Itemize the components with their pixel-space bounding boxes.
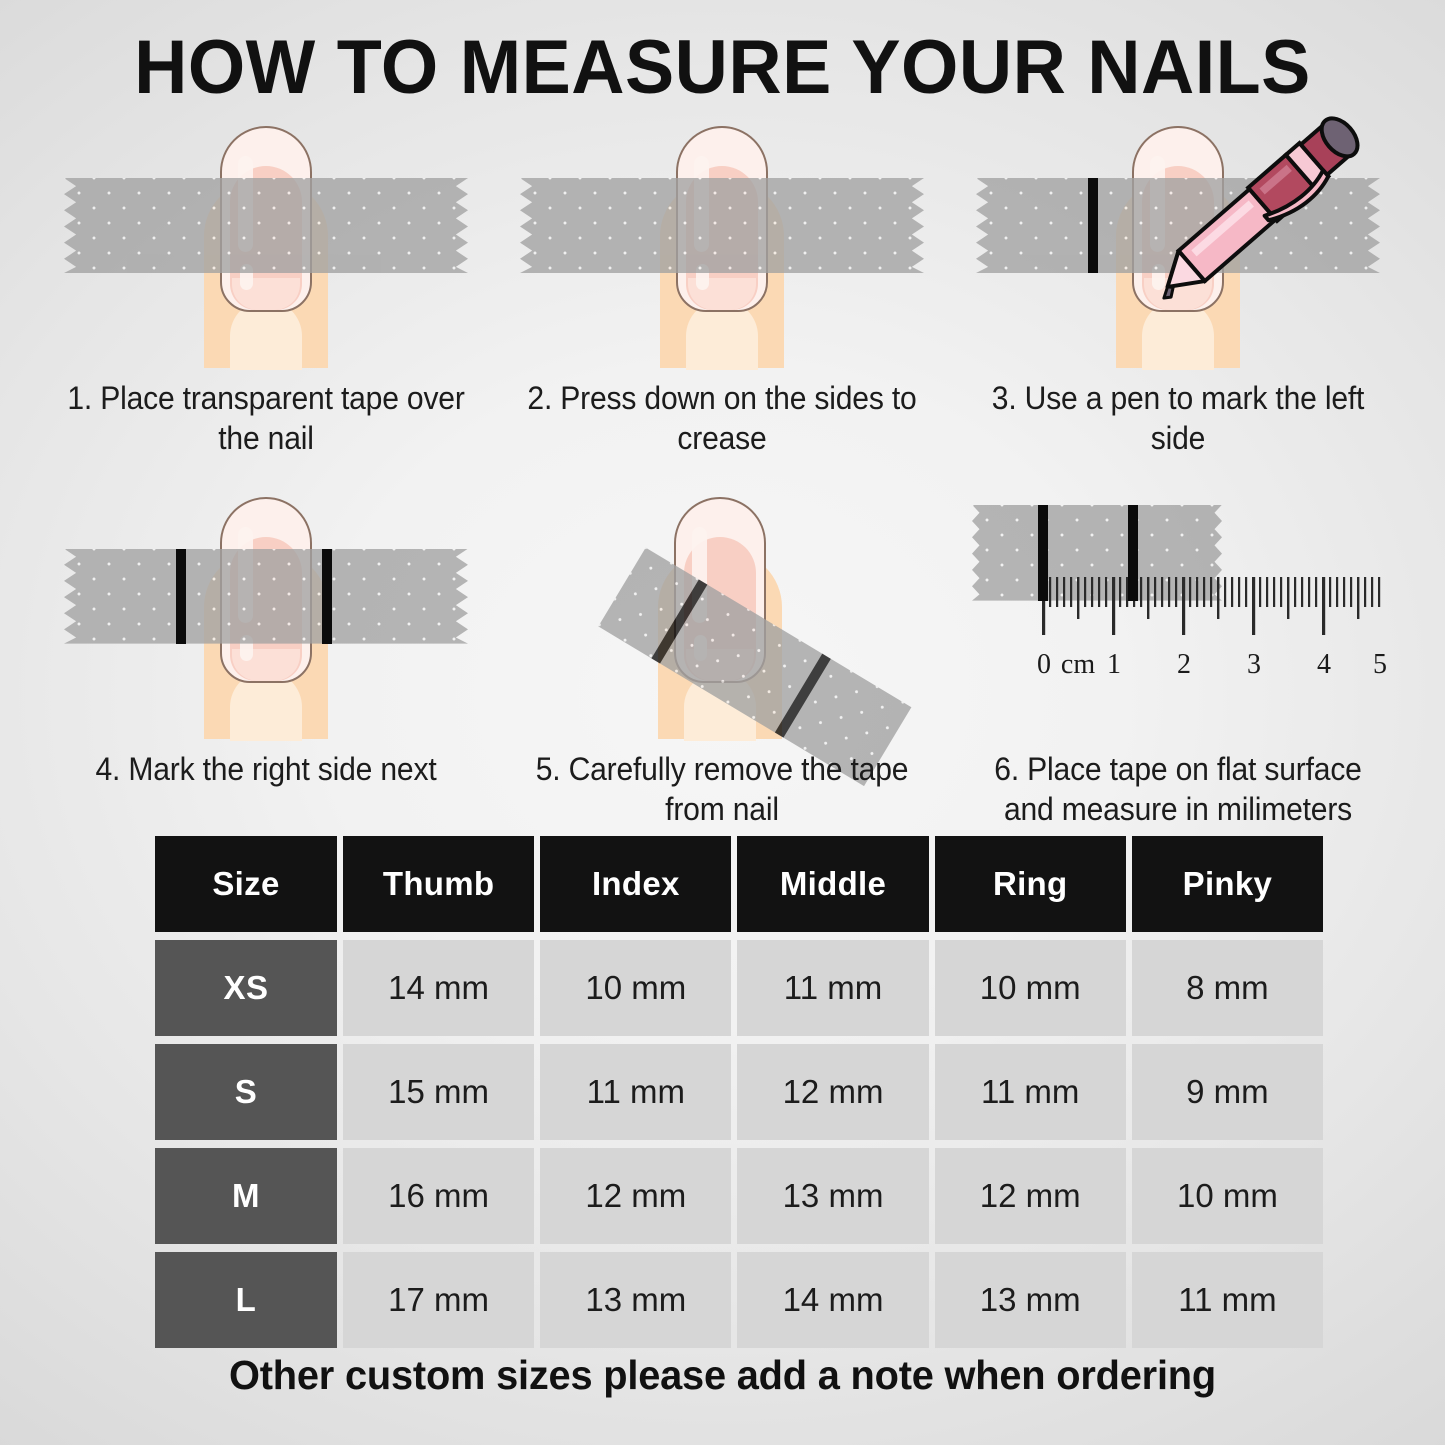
table-header-middle: Middle — [737, 836, 928, 932]
ruler-ticks — [974, 577, 1386, 647]
ruler-label-3: 3 — [1247, 649, 1261, 681]
size-label-m: M — [155, 1148, 337, 1244]
size-label-s: S — [155, 1044, 337, 1140]
right-pen-mark — [775, 653, 831, 737]
steps-row-1: 1. Place transparent tape over the nail … — [38, 118, 1408, 459]
table-header-ring: Ring — [935, 836, 1126, 932]
table-header-size: Size — [155, 836, 337, 932]
step-6: 0 cm 1 2 3 4 5 6. Place tape on flat sur… — [950, 489, 1406, 830]
step-2-caption: 2. Press down on the sides to crease — [520, 378, 924, 459]
cell-l-ring: 13 mm — [935, 1252, 1126, 1348]
step-5-caption: 5. Carefully remove the tape from nail — [520, 749, 924, 830]
ruler-label-0: 0 — [1037, 649, 1051, 681]
left-pen-mark — [176, 549, 186, 644]
left-pen-mark — [651, 579, 707, 663]
table-row: XS 14 mm 10 mm 11 mm 10 mm 8 mm — [155, 940, 1323, 1036]
size-label-l: L — [155, 1252, 337, 1348]
right-pen-mark — [322, 549, 332, 644]
tape-peeled-off-icon — [512, 489, 932, 739]
footer-note: Other custom sizes please add a note whe… — [22, 1352, 1424, 1399]
table-header-row: Size Thumb Index Middle Ring Pinky — [155, 836, 1323, 932]
tape-strip — [520, 178, 924, 273]
pen-icon — [1136, 112, 1386, 302]
cell-s-thumb: 15 mm — [343, 1044, 534, 1140]
cell-xs-index: 10 mm — [540, 940, 731, 1036]
cell-l-middle: 14 mm — [737, 1252, 928, 1348]
table-header-thumb: Thumb — [343, 836, 534, 932]
pen-marking-nail-icon — [968, 118, 1388, 368]
finger-with-tape-icon — [56, 118, 476, 368]
cell-xs-middle: 11 mm — [737, 940, 928, 1036]
table-row: M 16 mm 12 mm 13 mm 12 mm 10 mm — [155, 1148, 1323, 1244]
cell-l-index: 13 mm — [540, 1252, 731, 1348]
finger-with-creased-tape-icon — [512, 118, 932, 368]
cell-l-pinky: 11 mm — [1132, 1252, 1323, 1348]
cell-s-pinky: 9 mm — [1132, 1044, 1323, 1140]
cell-s-ring: 11 mm — [935, 1044, 1126, 1140]
left-pen-mark — [1088, 178, 1098, 273]
cell-m-middle: 13 mm — [737, 1148, 928, 1244]
table-row: L 17 mm 13 mm 14 mm 13 mm 11 mm — [155, 1252, 1323, 1348]
step-1: 1. Place transparent tape over the nail — [38, 118, 494, 459]
cell-xs-pinky: 8 mm — [1132, 940, 1323, 1036]
cell-m-index: 12 mm — [540, 1148, 731, 1244]
ruler-label-1: 1 — [1107, 649, 1121, 681]
cell-l-thumb: 17 mm — [343, 1252, 534, 1348]
ruler-label-4: 4 — [1317, 649, 1331, 681]
cell-xs-thumb: 14 mm — [343, 940, 534, 1036]
finger-with-two-marks-icon — [56, 489, 476, 739]
size-chart-table: Size Thumb Index Middle Ring Pinky XS 14… — [155, 836, 1323, 1356]
ruler-label-5: 5 — [1373, 649, 1387, 681]
left-pen-mark — [1038, 505, 1048, 601]
cell-m-pinky: 10 mm — [1132, 1148, 1323, 1244]
page-title: HOW TO MEASURE YOUR NAILS — [22, 24, 1424, 111]
step-3: 3. Use a pen to mark the left side — [950, 118, 1406, 459]
cell-xs-ring: 10 mm — [935, 940, 1126, 1036]
cell-m-thumb: 16 mm — [343, 1148, 534, 1244]
step-5: 5. Carefully remove the tape from nail — [494, 489, 950, 830]
tape-strip — [64, 178, 468, 273]
step-4-caption: 4. Mark the right side next — [64, 749, 468, 789]
table-header-index: Index — [540, 836, 731, 932]
steps-section: 1. Place transparent tape over the nail … — [38, 118, 1408, 829]
step-1-caption: 1. Place transparent tape over the nail — [64, 378, 468, 459]
cell-s-middle: 12 mm — [737, 1044, 928, 1140]
right-pen-mark — [1128, 505, 1138, 601]
ruler-icon: 0 cm 1 2 3 4 5 — [974, 577, 1386, 697]
tape-strip — [64, 549, 468, 644]
cell-s-index: 11 mm — [540, 1044, 731, 1140]
table-row: S 15 mm 11 mm 12 mm 11 mm 9 mm — [155, 1044, 1323, 1140]
steps-row-2: 4. Mark the right side next 5. Carefully — [38, 489, 1408, 830]
step-4: 4. Mark the right side next — [38, 489, 494, 830]
ruler-unit-label: cm — [1061, 649, 1095, 681]
tape-on-ruler-icon: 0 cm 1 2 3 4 5 — [968, 489, 1388, 739]
cell-m-ring: 12 mm — [935, 1148, 1126, 1244]
step-2: 2. Press down on the sides to crease — [494, 118, 950, 459]
table-header-pinky: Pinky — [1132, 836, 1323, 932]
size-label-xs: XS — [155, 940, 337, 1036]
step-3-caption: 3. Use a pen to mark the left side — [976, 378, 1380, 459]
ruler-label-2: 2 — [1177, 649, 1191, 681]
step-6-caption: 6. Place tape on flat surface and measur… — [976, 749, 1380, 830]
